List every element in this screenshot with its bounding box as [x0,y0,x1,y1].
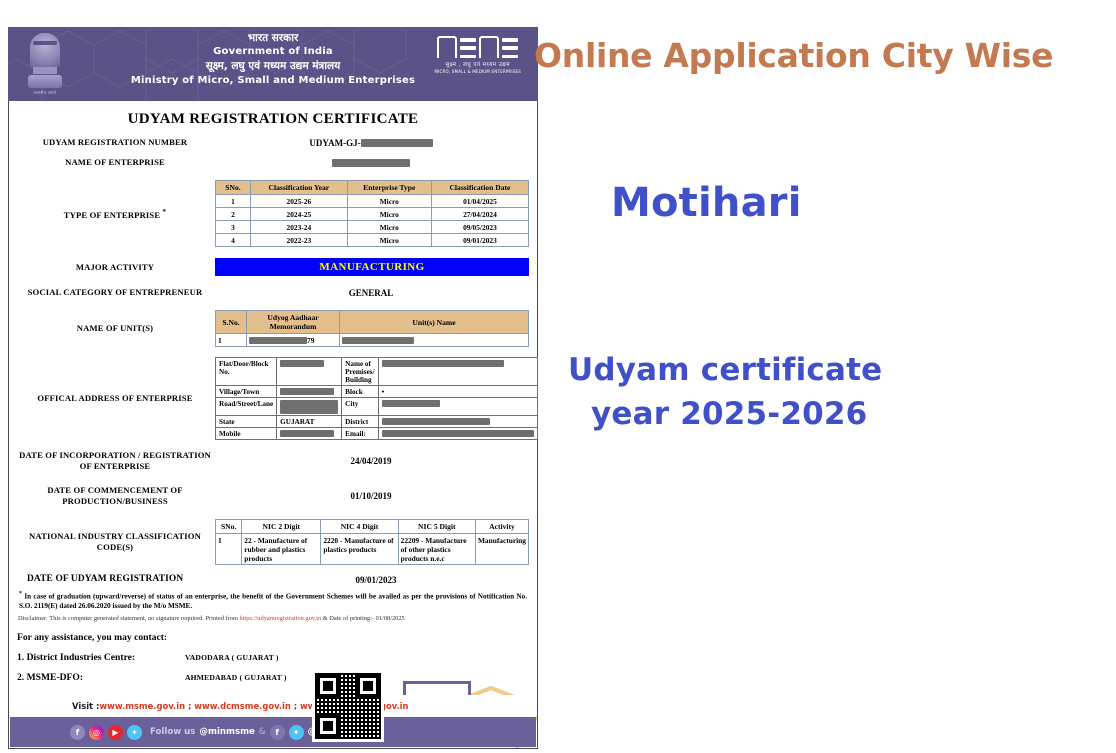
contact-value: AHMEDABAD ( GUJARAT ) [185,673,287,682]
units-table: S.No. Udyog Aadhaar Memorandum Unit(s) N… [215,310,529,347]
cell-nic2: 22 - Manufacture of rubber and plastics … [242,534,321,565]
label-social-category: SOCIAL CATEGORY OF ENTREPRENEUR [17,287,213,298]
label-date-udyam-registration: DATE OF UDYAM REGISTRATION [17,574,223,585]
cell-value [378,416,537,428]
table-row: 1 79 [216,334,529,347]
assistance-heading: For any assistance, you may contact: [17,632,529,643]
nic-table-wrap: SNo. NIC 2 Digit NIC 4 Digit NIC 5 Digit… [213,519,529,565]
youtube-icon[interactable]: ▶ [108,725,123,740]
th-udyog-aadhaar: Udyog Aadhaar Memorandum [247,311,340,334]
overlay-city-name: Motihari [611,180,802,226]
certificate-title: UDYAM REGISTRATION CERTIFICATE [17,101,529,137]
twitter-icon-secondary[interactable]: ✦ [289,725,304,740]
label-date-incorporation: DATE OF INCORPORATION / REGISTRATION OF … [17,450,213,472]
value-date-incorporation: 24/04/2019 [213,456,529,466]
cell-key: State [216,416,277,428]
contact-value: VADODARA ( GUJARAT ) [185,653,279,662]
contact-district-industries-centre: 1. District Industries Centre: VADODARA … [17,652,529,663]
th-sno: SNo. [216,181,251,195]
th-sno: S.No. [216,311,247,334]
cell-sno: 3 [216,221,251,234]
enterprise-type-table: SNo. Classification Year Enterprise Type… [215,180,529,247]
label-registration-number: UDYAM REGISTRATION NUMBER [17,137,213,148]
redaction-bar [382,430,534,437]
cell-key: City [342,398,378,416]
th-classification-date: Classification Date [431,181,528,195]
cell-year: 2025-26 [251,195,348,208]
visit-footer-strip: Visit : www.msme.gov.in ; www.dcmsme.gov… [10,695,536,717]
value-major-activity: MANUFACTURING [215,258,529,276]
cell-value [378,358,537,386]
table-row: State GUJARAT District [216,416,538,428]
th-sno: SNo. [216,520,242,534]
certificate-body: UDYAM REGISTRATION CERTIFICATE UDYAM REG… [8,101,538,749]
cell-key: Flat/Door/Block No. [216,358,277,386]
follow-us-text: Follow us [150,727,195,737]
cell-key: Email: [342,428,378,440]
value-social-category: GENERAL [213,288,529,298]
disclaimer-pre: Disclaimer: This is computer generated s… [18,615,240,622]
cell-value [378,398,537,416]
cell-date: 27/04/2024 [431,208,528,221]
cell-type: Micro [347,195,431,208]
disclaimer-post: & Date of printing:- 01/08/2025 [321,615,405,622]
row-name-of-enterprise: NAME OF ENTERPRISE [17,157,529,168]
overlay-subtitle-line2: year 2025-2026 [591,396,867,432]
ampersand-separator: & [259,727,266,737]
label-date-commencement: DATE OF COMMENCEMENT OF PRODUCTION/BUSIN… [17,485,213,507]
redaction-bar [280,388,334,395]
cell-sno: 1 [216,334,247,347]
contact-label: 1. District Industries Centre: [17,652,185,663]
cell-date: 01/04/2025 [431,195,528,208]
label-type-of-enterprise-text: TYPE OF ENTERPRISE [64,209,160,219]
label-official-address: OFFICAL ADDRESS OF ENTERPRISE [17,393,213,404]
cell-year: 2024-25 [251,208,348,221]
table-row: Flat/Door/Block No. Name of Premises/ Bu… [216,358,538,386]
cell-value [277,358,342,386]
cell-value [277,398,342,416]
row-date-incorporation: DATE OF INCORPORATION / REGISTRATION OF … [17,450,529,472]
redaction-bar [332,159,410,167]
redaction-bar [342,337,414,344]
redaction-bar [280,360,324,367]
cell-key: Village/Town [216,386,277,398]
msme-logo-english: MICRO, SMALL & MEDIUM ENTERPRISES [435,69,521,74]
value-registration-number: UDYAM-GJ- [213,138,529,148]
th-nic4: NIC 4 Digit [321,520,398,534]
udyam-certificate-image: सत्यमेव जयते भारत सरकार Government of In… [8,27,538,749]
table-row: 4 2022-23 Micro 09/01/2023 [216,234,529,247]
th-enterprise-type: Enterprise Type [347,181,431,195]
table-row: 1 22 - Manufacture of rubber and plastic… [216,534,529,565]
udyam-registration-link[interactable]: https://udyamregistration.gov.in [240,615,322,622]
cell-key: Block [342,386,378,398]
redaction-bar [382,360,504,367]
label-major-activity: MAJOR ACTIVITY [17,262,213,273]
msme-logo-hindi: सूक्ष्म , लघु एवं मध्यम उद्यम [435,60,521,68]
overlay-subtitle-line1: Udyam certificate [568,352,882,388]
label-name-of-units: NAME OF UNIT(S) [17,323,213,334]
cell-date: 09/05/2023 [431,221,528,234]
th-nic5: NIC 5 Digit [398,520,475,534]
emblem-motto: सत्यमेव जयते [34,90,56,96]
instagram-icon[interactable]: ◎ [89,725,104,740]
cell-sno: 1 [216,195,251,208]
cell-key: Road/Street/Lane [216,398,277,416]
redaction-bar [382,400,440,407]
twitter-icon[interactable]: ✦ [127,725,142,740]
cell-type: Micro [347,221,431,234]
row-date-commencement: DATE OF COMMENCEMENT OF PRODUCTION/BUSIN… [17,485,529,507]
redaction-bar [382,418,490,425]
cell-key: Name of Premises/ Building [342,358,378,386]
table-row: Mobile Email: [216,428,538,440]
handle-minmsme[interactable]: @minmsme [199,727,254,737]
units-table-wrap: S.No. Udyog Aadhaar Memorandum Unit(s) N… [213,310,529,347]
table-header-row: SNo. Classification Year Enterprise Type… [216,181,529,195]
th-units-name: Unit(s) Name [340,311,529,334]
facebook-icon[interactable]: f [70,725,85,740]
value-date-udyam-registration: 09/01/2023 [223,575,529,585]
visit-label: Visit : [72,701,99,711]
row-social-category: SOCIAL CATEGORY OF ENTREPRENEUR GENERAL [17,287,529,298]
redaction-bar [280,430,334,437]
row-type-of-enterprise: TYPE OF ENTERPRISE * SNo. Classification… [17,180,529,247]
label-name-of-enterprise: NAME OF ENTERPRISE [17,157,213,168]
redaction-bar [280,400,338,414]
cell-nic4: 2220 - Manufacture of plastics products [321,534,398,565]
cell-value [277,428,342,440]
cell-key: Mobile [216,428,277,440]
value-date-commencement: 01/10/2019 [213,491,529,501]
certificate-banner: सत्यमेव जयते भारत सरकार Government of In… [8,27,538,101]
msme-logo-icon: सूक्ष्म , लघु एवं मध्यम उद्यम MICRO, SMA… [435,36,521,74]
cell-year: 2023-24 [251,221,348,234]
cell-date: 09/01/2023 [431,234,528,247]
cell-year: 2022-23 [251,234,348,247]
graduation-note-text: In case of graduation (upward/reverse) o… [19,592,527,610]
cell-sno: 2 [216,208,251,221]
address-table: Flat/Door/Block No. Name of Premises/ Bu… [215,357,538,440]
social-footer-strip: f ◎ ▶ ✦ Follow us @minmsme & f ✦ @msmedf… [10,717,536,747]
disclaimer-line: Disclaimer: This is computer generated s… [17,614,529,623]
cell-activity: Manufacturing [475,534,528,565]
overlay-title: Online Application City Wise [534,36,1053,75]
cell-sno: 4 [216,234,251,247]
table-header-row: SNo. NIC 2 Digit NIC 4 Digit NIC 5 Digit… [216,520,529,534]
th-classification-year: Classification Year [251,181,348,195]
th-nic2: NIC 2 Digit [242,520,321,534]
cell-type: Micro [347,208,431,221]
graduation-note: * In case of graduation (upward/reverse)… [17,590,529,611]
table-row: 3 2023-24 Micro 09/05/2023 [216,221,529,234]
cell-nic5: 22209 - Manufacture of other plastics pr… [398,534,475,565]
cell-value: GUJARAT [277,416,342,428]
row-official-address: OFFICAL ADDRESS OF ENTERPRISE Flat/Door/… [17,357,529,440]
table-row: Road/Street/Lane City [216,398,538,416]
row-nic-codes: NATIONAL INDUSTRY CLASSIFICATION CODE(S)… [17,519,529,565]
table-header-row: S.No. Udyog Aadhaar Memorandum Unit(s) N… [216,311,529,334]
cell-udyog-aadhaar-suffix: 79 [307,336,314,345]
table-row: Village/Town Block • [216,386,538,398]
ministry-english-line: Ministry of Micro, Small and Medium Ente… [8,74,538,88]
table-row: 1 2025-26 Micro 01/04/2025 [216,195,529,208]
cell-value: • [378,386,537,398]
enterprise-type-table-wrap: SNo. Classification Year Enterprise Type… [213,180,529,247]
qr-code-icon [312,670,384,742]
nic-table: SNo. NIC 2 Digit NIC 4 Digit NIC 5 Digit… [215,519,529,565]
value-name-of-enterprise [213,158,529,168]
row-registration-number: UDYAM REGISTRATION NUMBER UDYAM-GJ- [17,137,529,148]
label-type-of-enterprise: TYPE OF ENTERPRISE * [17,207,213,221]
cell-key: District [342,416,378,428]
cell-type: Micro [347,234,431,247]
contact-label: 2. MSME-DFO: [17,672,185,683]
cell-udyog-aadhaar: 79 [247,334,340,347]
registration-number-prefix: UDYAM-GJ- [309,138,360,148]
redaction-bar [361,139,433,147]
row-date-udyam-registration: DATE OF UDYAM REGISTRATION 09/01/2023 [17,574,529,585]
major-activity-wrap: MANUFACTURING [213,258,529,276]
cell-value [378,428,537,440]
cell-value [277,386,342,398]
row-major-activity: MAJOR ACTIVITY MANUFACTURING [17,258,529,276]
table-row: 2 2024-25 Micro 27/04/2024 [216,208,529,221]
asterisk-marker: * [163,208,167,216]
address-table-wrap: Flat/Door/Block No. Name of Premises/ Bu… [213,357,538,440]
facebook-icon-secondary[interactable]: f [270,725,285,740]
th-activity: Activity [475,520,528,534]
cell-sno: 1 [216,534,242,565]
redaction-bar [249,337,307,344]
label-nic-codes: NATIONAL INDUSTRY CLASSIFICATION CODE(S) [17,531,213,553]
cell-units-name [340,334,529,347]
row-name-of-units: NAME OF UNIT(S) S.No. Udyog Aadhaar Memo… [17,310,529,347]
